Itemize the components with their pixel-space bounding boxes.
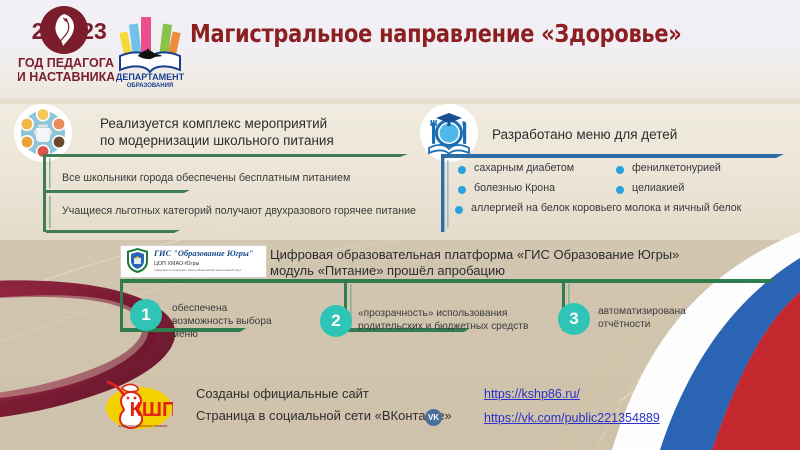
svg-text:23: 23 bbox=[81, 18, 107, 44]
gis-logo-sub: ЦОП ХМАО-Югры bbox=[154, 261, 200, 267]
bullet-icon bbox=[458, 166, 466, 174]
svg-text:2: 2 bbox=[32, 18, 45, 44]
gis-step-1-number: 1 bbox=[130, 299, 162, 331]
gis-step-3-text: автоматизирована отчётности bbox=[598, 305, 748, 331]
logo-year-line1: ГОД ПЕДАГОГА bbox=[18, 56, 114, 70]
page-title: Магистральное направление «Здоровье» bbox=[190, 19, 682, 48]
right-block-heading: Разработано меню для детей bbox=[492, 126, 782, 143]
gis-step-2-text: «прозрачность» использования родительсхи… bbox=[358, 307, 548, 333]
bullet-icon bbox=[616, 186, 624, 194]
bottom-line-2: Страница в социальной сети «ВКонтакте» bbox=[196, 408, 452, 423]
official-site-link[interactable]: https://kshp86.ru/ bbox=[484, 387, 580, 401]
left-block-frame bbox=[40, 150, 410, 236]
vk-icon[interactable]: VK bbox=[425, 409, 442, 426]
left-block-row-1: Все школьники города обеспечены бесплатн… bbox=[62, 172, 350, 184]
left-block-row-2: Учащиеся льготных категорий получают дву… bbox=[62, 205, 416, 217]
bullet-icon bbox=[458, 186, 466, 194]
right-block-item-3: фенилкетонурией bbox=[632, 162, 721, 174]
gis-step-3-number: 3 bbox=[558, 303, 590, 335]
vk-page-link[interactable]: https://vk.com/public221354889 bbox=[484, 411, 660, 425]
gis-logo-sub2: цифровая платформа. Ханты-Мансийский авт… bbox=[154, 268, 242, 272]
background-header-edge bbox=[0, 98, 800, 104]
gis-step-1-text: обеспечена возможность выбора меню bbox=[172, 302, 292, 341]
bullet-icon bbox=[455, 206, 463, 214]
right-block-item-wide: аллергией на белок коровьего молока и яи… bbox=[471, 202, 741, 214]
right-block-item-2: болезнью Крона bbox=[474, 182, 555, 194]
logo-year-of-teacher: 2 23 ГОД ПЕДАГОГА И НАСТАВНИКА bbox=[18, 4, 114, 86]
logo-department-line1: ДЕПАРТАМЕНТ bbox=[116, 72, 184, 82]
right-block-item-1: сахарным диабетом bbox=[474, 162, 574, 174]
gis-block-heading: Цифровая образовательная платформа «ГИС … bbox=[270, 247, 679, 279]
slide-canvas: 2 23 ГОД ПЕДАГОГА И НАСТАВНИКА ДЕПАРТАМЕ… bbox=[0, 0, 800, 450]
kshp-sub: комбинат школьного питания bbox=[119, 424, 168, 428]
logo-year-line2: И НАСТАВНИКА bbox=[18, 70, 114, 84]
bottom-line-1: Созданы официальные сайт bbox=[196, 386, 369, 401]
right-block-item-4: целиакией bbox=[632, 182, 684, 194]
left-block-heading: Реализуется комплекс мероприятий по моде… bbox=[100, 115, 400, 149]
ugra-coat-of-arms-icon bbox=[124, 247, 151, 274]
logo-department-of-education: ДЕПАРТАМЕНТ ОБРАЗОВАНИЯ bbox=[116, 6, 184, 90]
kshp-logo: КШП комбинат школьного питания bbox=[95, 374, 173, 436]
gis-step-2-number: 2 bbox=[320, 305, 352, 337]
kshp-abbr: КШП bbox=[130, 399, 173, 421]
bullet-icon bbox=[616, 166, 624, 174]
gis-logo-name: ГИС "Образование Югры" bbox=[154, 249, 253, 258]
logo-department-line2: ОБРАЗОВАНИЯ bbox=[127, 83, 173, 89]
